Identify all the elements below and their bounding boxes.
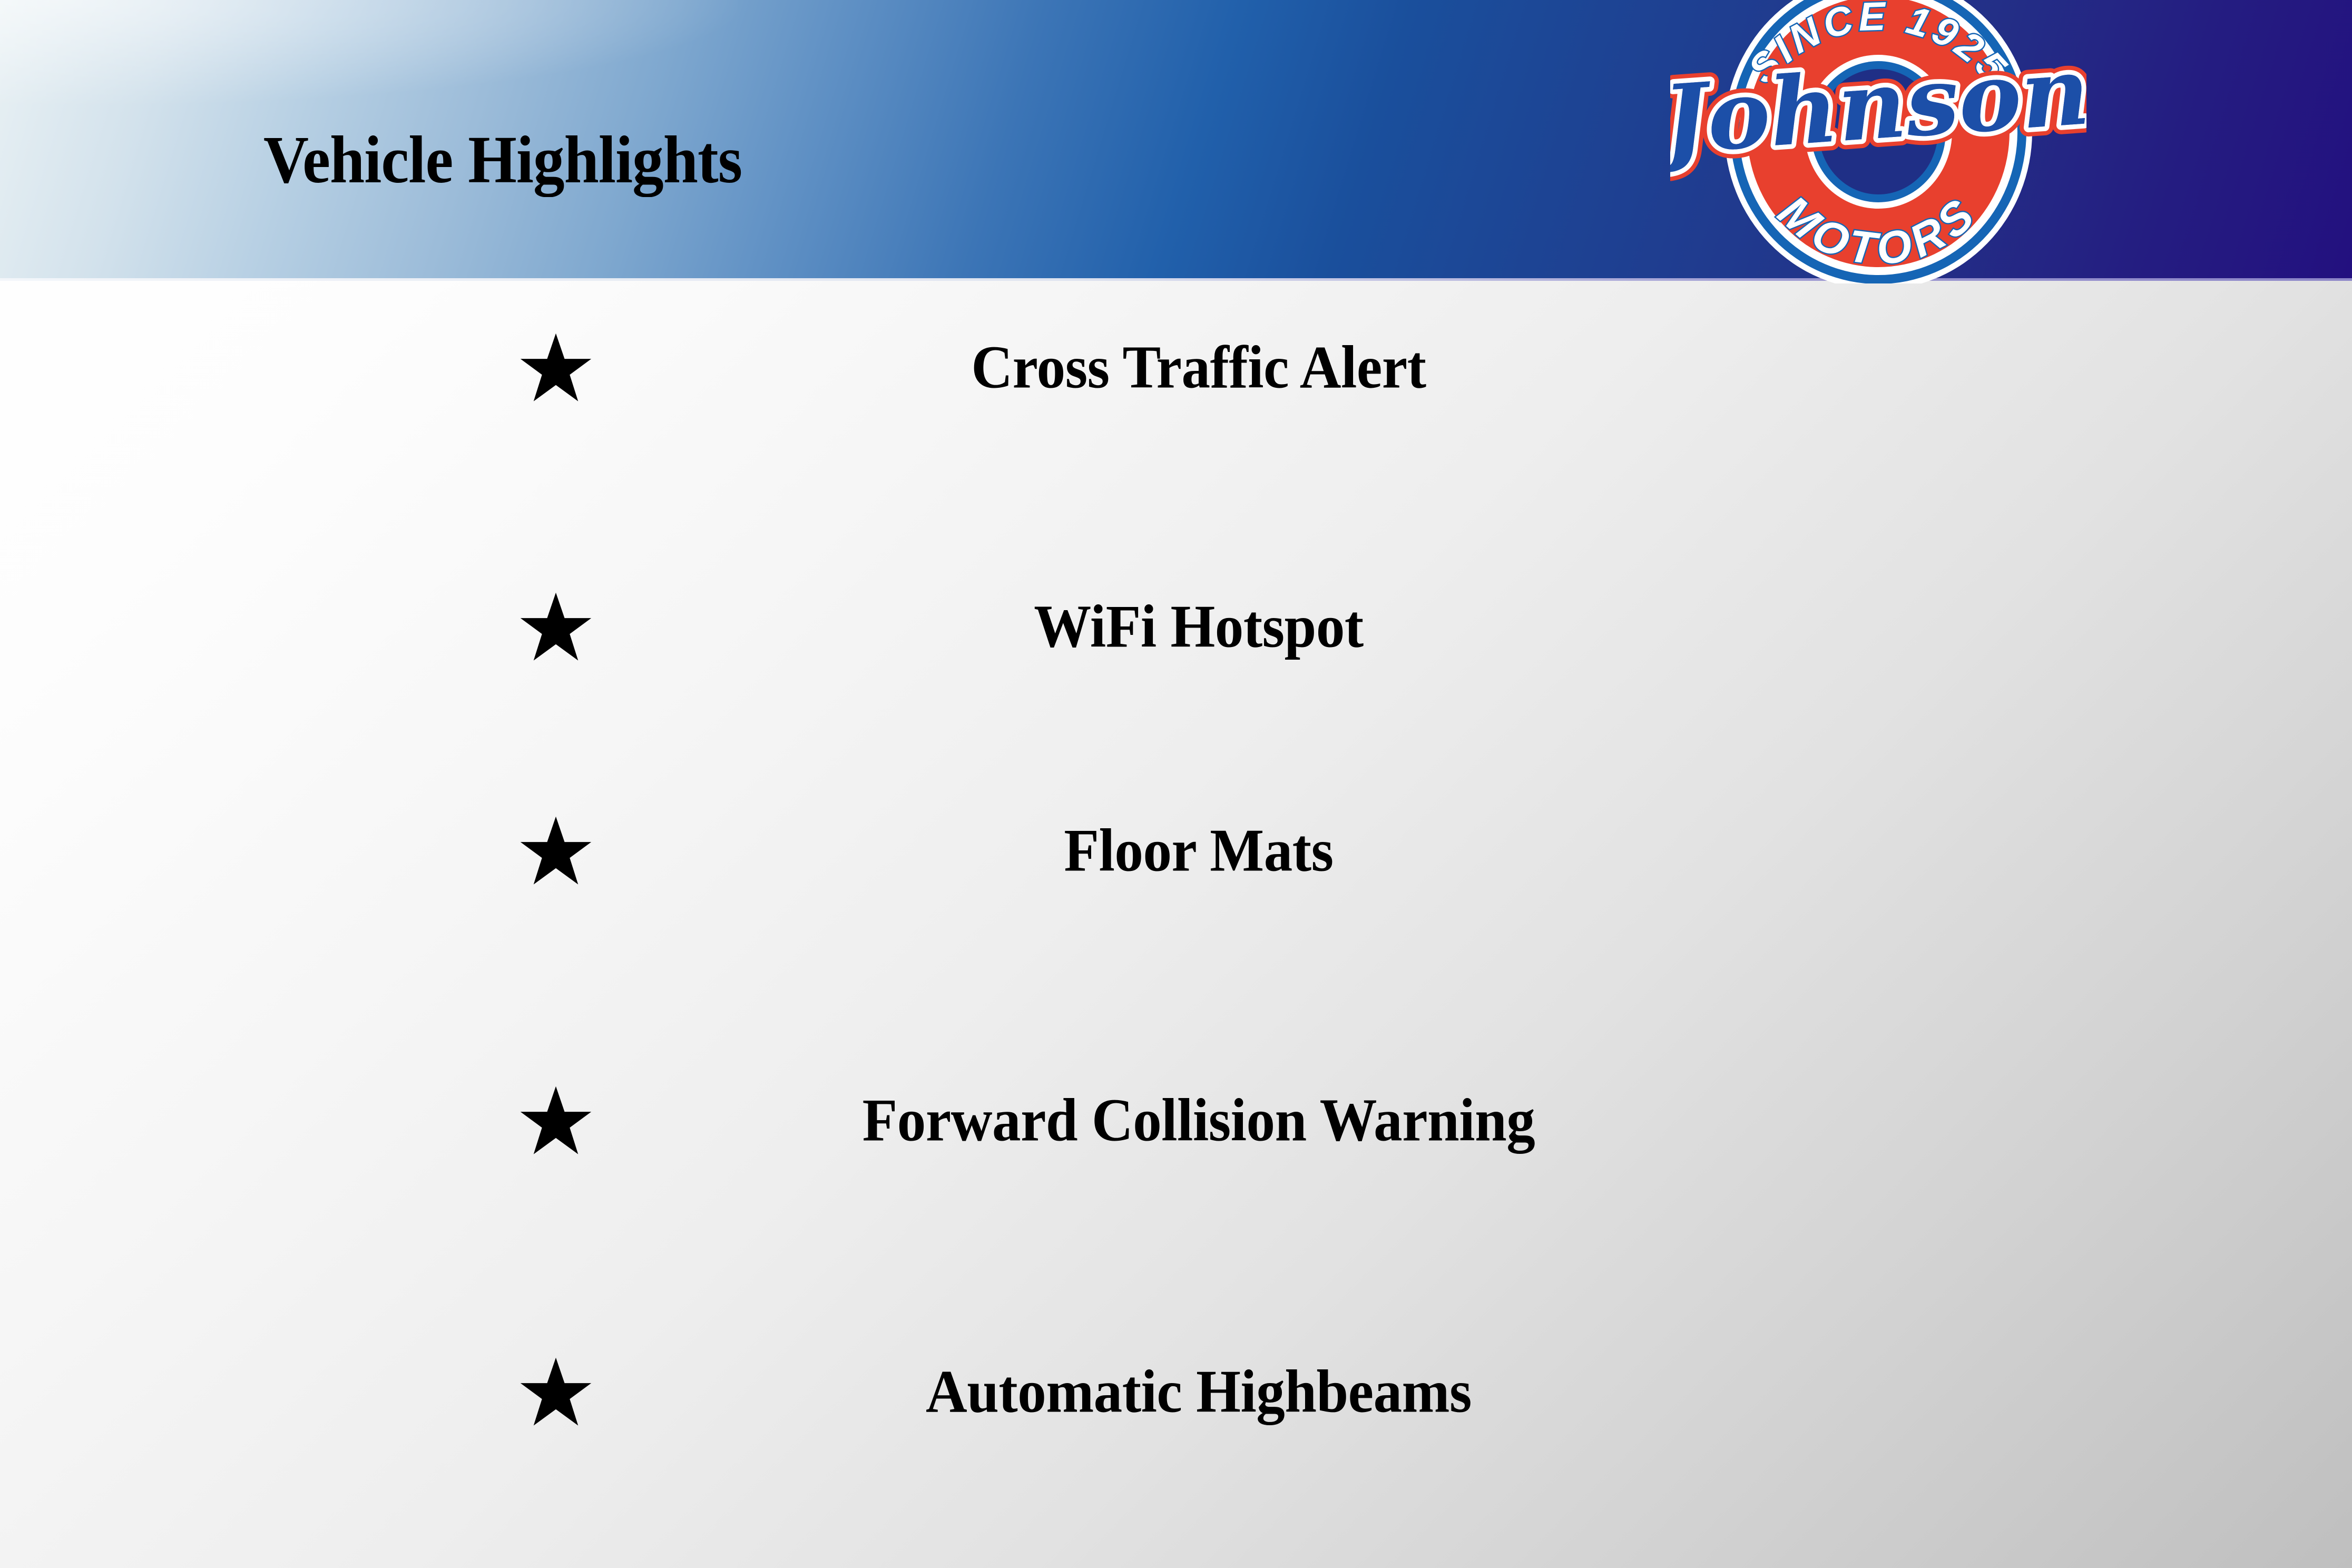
star-icon xyxy=(519,1085,593,1159)
vehicle-highlights-slide: Vehicle Highlights xyxy=(0,0,2352,1568)
star-icon xyxy=(519,591,593,665)
list-item: WiFi Hotspot xyxy=(0,583,2352,673)
feature-label: WiFi Hotspot xyxy=(706,596,1692,658)
list-item: Floor Mats xyxy=(0,807,2352,897)
feature-list: Cross Traffic Alert WiFi Hotspot Floor M… xyxy=(0,280,2352,1568)
feature-label: Floor Mats xyxy=(706,820,1692,881)
list-item: Forward Collision Warning xyxy=(0,1077,2352,1167)
johnson-motors-logo: SINCE 1925 MOTORS Johnson Johnson Johnso… xyxy=(1670,0,2086,286)
page-title: Vehicle Highlights xyxy=(263,124,742,195)
feature-label: Automatic Highbeams xyxy=(706,1361,1692,1423)
star-icon xyxy=(519,815,593,889)
feature-label: Forward Collision Warning xyxy=(706,1090,1692,1151)
list-item: Automatic Highbeams xyxy=(0,1348,2352,1438)
star-icon xyxy=(519,332,593,406)
star-icon xyxy=(519,1356,593,1430)
list-item: Cross Traffic Alert xyxy=(0,324,2352,414)
feature-label: Cross Traffic Alert xyxy=(706,337,1692,398)
